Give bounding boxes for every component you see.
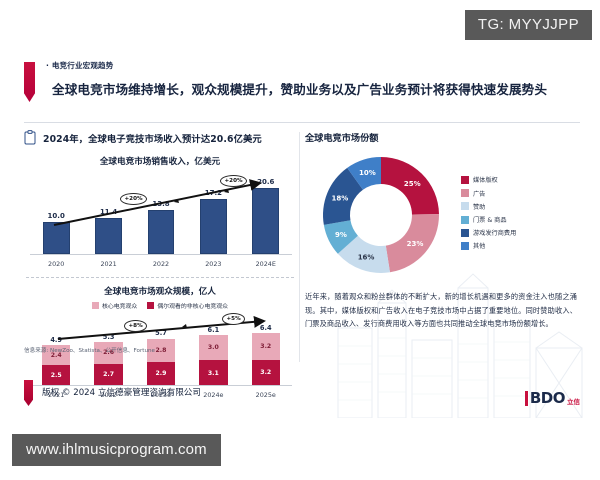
bdo-logo-bar [525, 391, 528, 406]
footer-accent-flag [24, 380, 33, 406]
slide-card: · 电竞行业宏观趋势 全球电竞市场维持增长，观众规模提升，赞助业务以及广告业务预… [0, 46, 600, 418]
chart1-growth-badge-2: +20% [220, 175, 247, 187]
donut-slice-label: 18% [331, 195, 348, 203]
market-share-legend-swatch [461, 242, 469, 250]
market-share-legend-label: 其他 [473, 241, 485, 250]
chart2-segment-core: 3.0 [199, 335, 228, 360]
url-watermark: www.ihlmusicprogram.com [12, 434, 221, 466]
market-share-legend-swatch [461, 216, 469, 224]
chart2-bar-total: 5.3 [103, 333, 115, 341]
chart2-bar-total: 5.7 [155, 329, 167, 337]
chart1-bar-value: 13.8 [152, 200, 169, 208]
chart1-bars: 10.011.413.817.220.6 [30, 179, 292, 254]
column-divider [299, 132, 300, 362]
market-share-legend-swatch [461, 202, 469, 210]
market-share-legend-swatch [461, 229, 469, 237]
market-share-legend-item: 门票 & 商品 [461, 215, 516, 224]
revenue-callout: 2024年，全球电子竞技市场收入预计达20.6亿美元 [24, 130, 296, 145]
chart1-bar-rect [43, 222, 70, 254]
revenue-bar-chart: 10.011.413.817.220.6 2020202120222023202… [24, 171, 296, 269]
chart1-title: 全球电竞市场销售收入，亿美元 [24, 155, 296, 167]
chart2-growth-badge-2: +5% [222, 313, 245, 325]
chart2-growth-badge-1: +8% [124, 320, 147, 332]
chart1-bar-value: 20.6 [257, 178, 274, 186]
market-share-donut: 25%23%16%9%18%10% [305, 148, 457, 282]
chart1-bar-rect [200, 199, 227, 254]
market-share-title: 全球电竞市场份额 [305, 130, 577, 144]
donut-slice-label: 16% [358, 253, 375, 261]
market-share-paragraph: 近年来，随着观众和粉丝群体的不断扩大，新的增长机遇和更多的资金注入也随之涌现。其… [305, 290, 577, 331]
chart1-x-label: 2024E [243, 260, 288, 268]
chart1-bar-rect [148, 210, 175, 254]
chart2-legend-item: 偶尔观看的非核心电竞观众 [147, 301, 228, 310]
bdo-logo-text: BDO [530, 391, 565, 406]
market-share-legend-item: 广告 [461, 189, 516, 198]
slide-footer: 版权 © 2024 立信德豪管理咨询有限公司 BDO 立信 [24, 380, 580, 408]
right-column: 全球电竞市场份额 25%23%16%9%18%10% 媒体版权广告赞助门票 & … [305, 130, 577, 331]
header-eyebrow: · 电竞行业宏观趋势 [46, 60, 580, 72]
chart1-bar: 20.6 [243, 178, 288, 254]
chart2-bar-stack: 3.03.1 [199, 335, 228, 386]
donut-slice-label: 25% [404, 180, 421, 188]
chart2-legend-item: 核心电竞观众 [92, 301, 137, 310]
chart2-segment-core: 3.2 [252, 333, 281, 360]
market-share-legend-label: 门票 & 商品 [473, 215, 507, 224]
header-accent-flag [24, 62, 35, 102]
donut-svg: 25%23%16%9%18%10% [305, 148, 457, 282]
chart1-bar: 17.2 [191, 189, 236, 254]
page-title: 全球电竞市场维持增长，观众规模提升，赞助业务以及广告业务预计将获得快速发展势头 [52, 79, 580, 98]
chart2-legend-swatch [147, 302, 154, 309]
chart1-x-label: 2020 [34, 260, 79, 268]
chart1-bar-value: 11.4 [100, 208, 117, 216]
market-share-legend-label: 赞助 [473, 202, 485, 211]
market-share-legend-item: 游戏发行商费用 [461, 228, 516, 237]
chart1-bar-value: 17.2 [205, 189, 222, 197]
slide-header: · 电竞行业宏观趋势 全球电竞市场维持增长，观众规模提升，赞助业务以及广告业务预… [24, 60, 580, 98]
chart1-x-label: 2021 [86, 260, 131, 268]
market-share-legend-label: 媒体版权 [473, 175, 498, 184]
chart1-bar-value: 10.0 [48, 212, 65, 220]
chart1-axis [30, 254, 292, 255]
chart1-x-labels: 20202021202220232024E [30, 260, 292, 268]
chart1-growth-badge-1: +20% [120, 193, 147, 205]
chart1-bar-rect [252, 188, 279, 254]
donut-slice-label: 9% [335, 231, 347, 239]
chart2-bar-total: 6.4 [260, 324, 272, 332]
chart2-title: 全球电竞市场观众规模，亿人 [24, 285, 296, 297]
donut-slice-label: 10% [359, 169, 376, 177]
market-share-legend-label: 游戏发行商费用 [473, 228, 516, 237]
telegram-watermark: TG: MYYJJPP [465, 10, 592, 40]
chart1-bar: 13.8 [139, 200, 184, 254]
market-share-chart-row: 25%23%16%9%18%10% 媒体版权广告赞助门票 & 商品游戏发行商费用… [305, 148, 577, 282]
chart2-bar: 6.43.23.2 [243, 324, 288, 387]
market-share-legend-item: 其他 [461, 241, 516, 250]
chart2-bar-total: 6.1 [208, 326, 220, 334]
market-share-legend: 媒体版权广告赞助门票 & 商品游戏发行商费用其他 [461, 175, 516, 254]
market-share-legend-label: 广告 [473, 189, 485, 198]
chart2-bars: 4.92.42.55.32.62.75.72.82.96.13.03.16.43… [30, 328, 292, 386]
header-divider [24, 122, 580, 123]
market-share-legend-item: 赞助 [461, 202, 516, 211]
market-share-legend-swatch [461, 189, 469, 197]
chart2-legend: 核心电竞观众偶尔观看的非核心电竞观众 [24, 301, 296, 310]
clipboard-icon [24, 130, 36, 145]
chart1-bar-rect [95, 218, 122, 254]
chart2-legend-label: 偶尔观看的非核心电竞观众 [157, 301, 228, 310]
bdo-logo: BDO 立信 [525, 391, 580, 406]
left-column: 2024年，全球电子竞技市场收入预计达20.6亿美元 全球电竞市场销售收入，亿美… [24, 130, 296, 400]
chart1-x-label: 2022 [139, 260, 184, 268]
revenue-callout-text: 2024年，全球电子竞技市场收入预计达20.6亿美元 [43, 131, 262, 145]
left-dashed-divider [26, 277, 294, 278]
market-share-legend-item: 媒体版权 [461, 175, 516, 184]
bdo-logo-cn: 立信 [567, 399, 580, 406]
chart1-x-label: 2023 [191, 260, 236, 268]
donut-slice-label: 23% [407, 240, 424, 248]
chart2-bar: 4.92.42.5 [34, 336, 79, 386]
chart2-legend-label: 核心电竞观众 [102, 301, 137, 310]
chart2-legend-swatch [92, 302, 99, 309]
chart2-bar: 5.72.82.9 [139, 329, 184, 386]
chart2-bar: 5.32.62.7 [86, 333, 131, 386]
chart1-bar: 10.0 [34, 212, 79, 254]
market-share-legend-swatch [461, 176, 469, 184]
chart2-bar-stack: 3.23.2 [252, 333, 281, 386]
slide-page: TG: MYYJJPP [0, 0, 600, 480]
chart1-bar: 11.4 [86, 208, 131, 254]
chart2-bar: 6.13.03.1 [191, 326, 236, 386]
copyright-text: 版权 © 2024 立信德豪管理咨询有限公司 [42, 386, 201, 398]
source-note: 信息来源: NewZoo、Statista、公开信息、Fortune [24, 346, 155, 354]
chart2-bar-total: 4.9 [50, 336, 62, 344]
